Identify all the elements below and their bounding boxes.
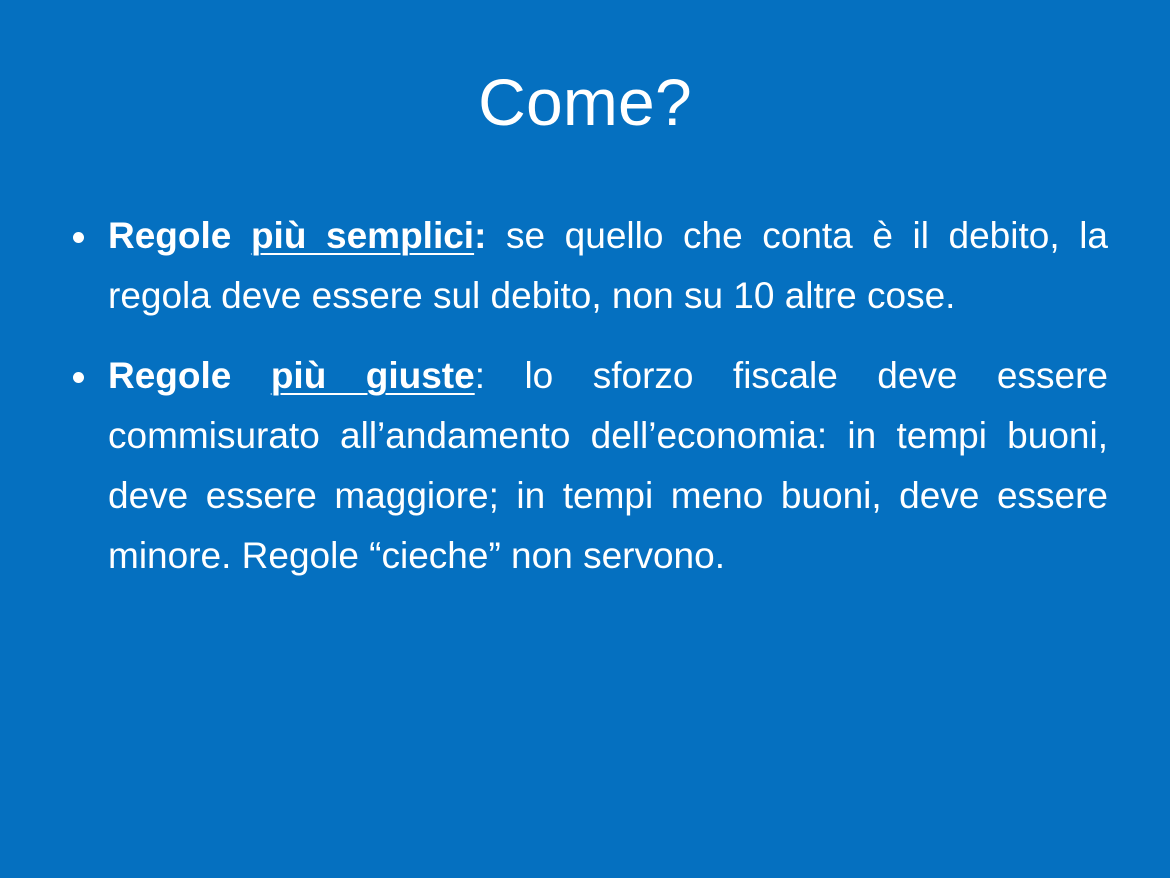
- bullet-lead-emphasis: più giuste: [271, 355, 475, 396]
- list-item: Regole più giuste: lo sforzo fiscale dev…: [62, 346, 1108, 586]
- page-title: Come?: [0, 62, 1170, 142]
- bullet-list: Regole più semplici: se quello che conta…: [62, 206, 1108, 586]
- bullet-lead-colon: :: [474, 215, 486, 256]
- bullet-lead-label: Regole: [108, 215, 251, 256]
- bullet-lead-colon: :: [475, 355, 485, 396]
- list-item: Regole più semplici: se quello che conta…: [62, 206, 1108, 326]
- bullet-point-icon: [73, 372, 84, 383]
- bullet-lead-emphasis: più semplici: [251, 215, 474, 256]
- bullet-lead-label: Regole: [108, 355, 271, 396]
- bullet-point-icon: [73, 232, 84, 243]
- slide-canvas: Come? Regole più semplici: se quello che…: [0, 0, 1170, 878]
